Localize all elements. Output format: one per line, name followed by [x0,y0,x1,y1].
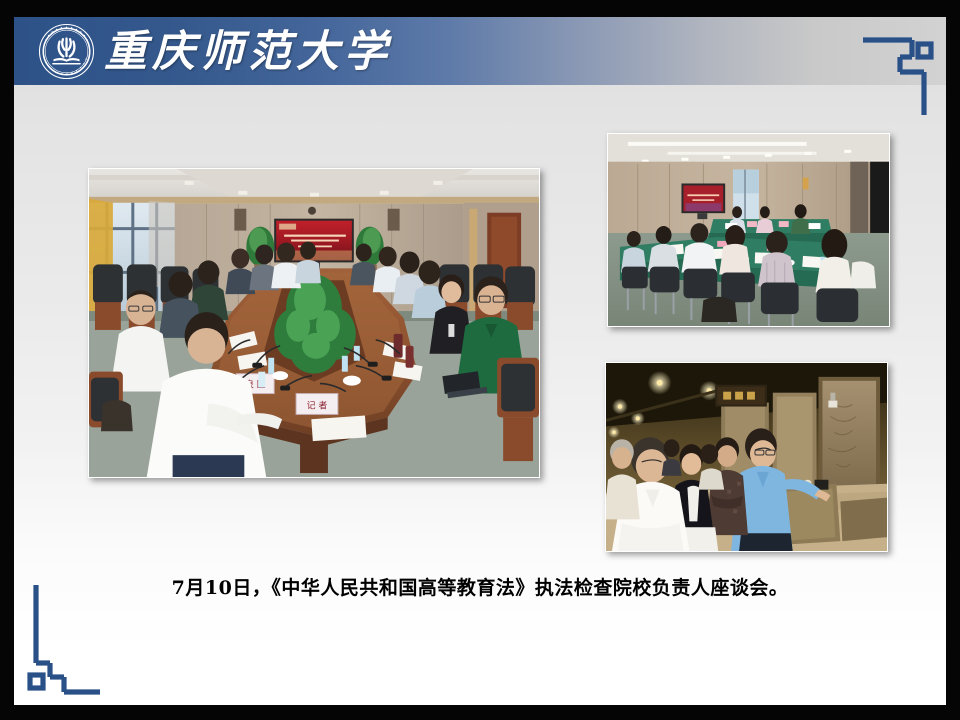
photo-green-table-meeting[interactable] [607,133,890,327]
corner-ornament-top-right [860,31,936,115]
slide-caption: 7月10日，《中华人民共和国高等教育法》执法检查院校负责人座谈会。 [14,573,946,600]
university-emblem-icon [38,23,95,80]
slide-canvas: 重庆师范大学 [14,17,946,705]
photo-main-meeting[interactable]: 泉 区 记 者 [88,168,540,478]
svg-text:记 者: 记 者 [307,400,328,411]
slide-frame: 重庆师范大学 [0,0,960,720]
corner-ornament-bottom-left [24,585,100,695]
university-name: 重庆师范大学 [104,21,392,83]
header-band: 重庆师范大学 [14,17,946,85]
photo-exhibition-visit[interactable] [605,362,888,552]
